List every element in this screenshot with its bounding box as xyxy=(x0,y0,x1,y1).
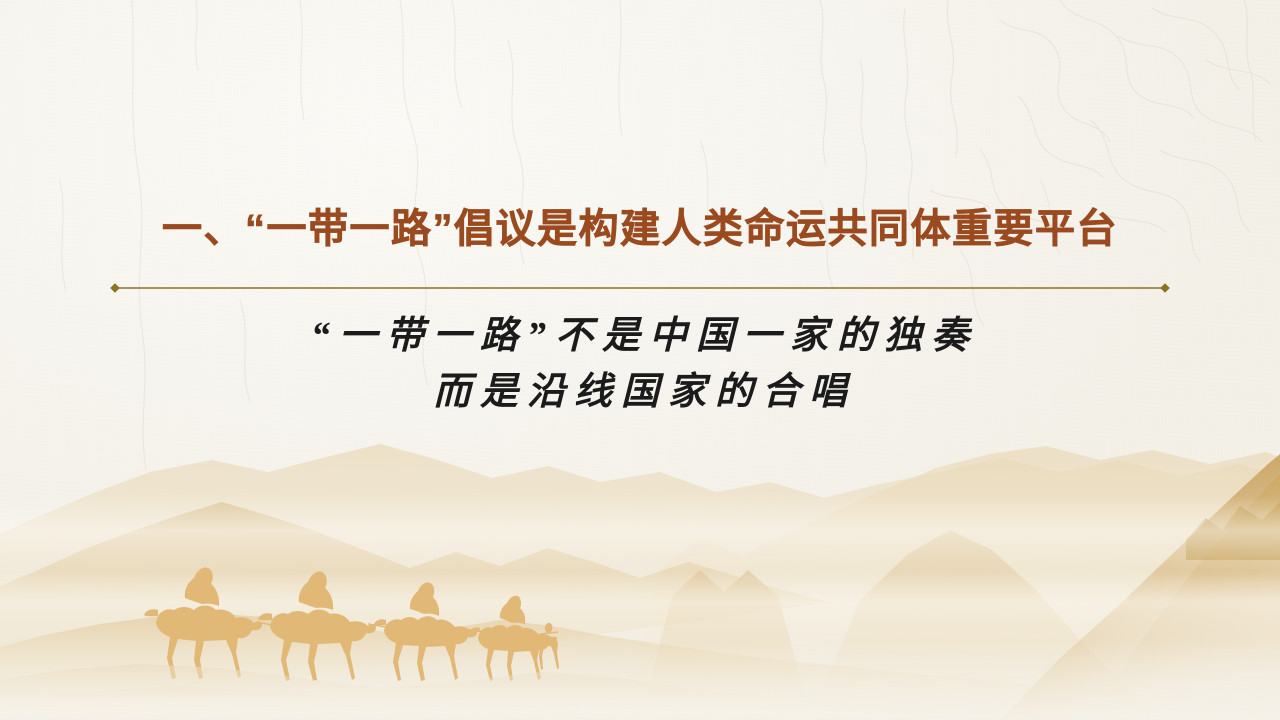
slide-canvas: 一、“一带一路”倡议是构建人类命运共同体重要平台 “一带一路”不是中国一家的独奏… xyxy=(0,0,1280,720)
divider-diamond-left xyxy=(110,283,120,293)
atmospheric-haze-band-upper xyxy=(0,496,1280,574)
subtitle-line-1: “一带一路”不是中国一家的独奏 xyxy=(0,308,1280,364)
subtitle-line-2: 而是沿线国家的合唱 xyxy=(0,364,1280,420)
divider-diamond-right xyxy=(1160,283,1170,293)
section-divider xyxy=(108,281,1172,295)
title-block: 一、“一带一路”倡议是构建人类命运共同体重要平台 xyxy=(0,206,1280,252)
subtitle-block: “一带一路”不是中国一家的独奏 而是沿线国家的合唱 xyxy=(0,308,1280,420)
desert-mountain-landscape xyxy=(0,420,1280,720)
page-title: 一、“一带一路”倡议是构建人类命运共同体重要平台 xyxy=(0,206,1280,252)
